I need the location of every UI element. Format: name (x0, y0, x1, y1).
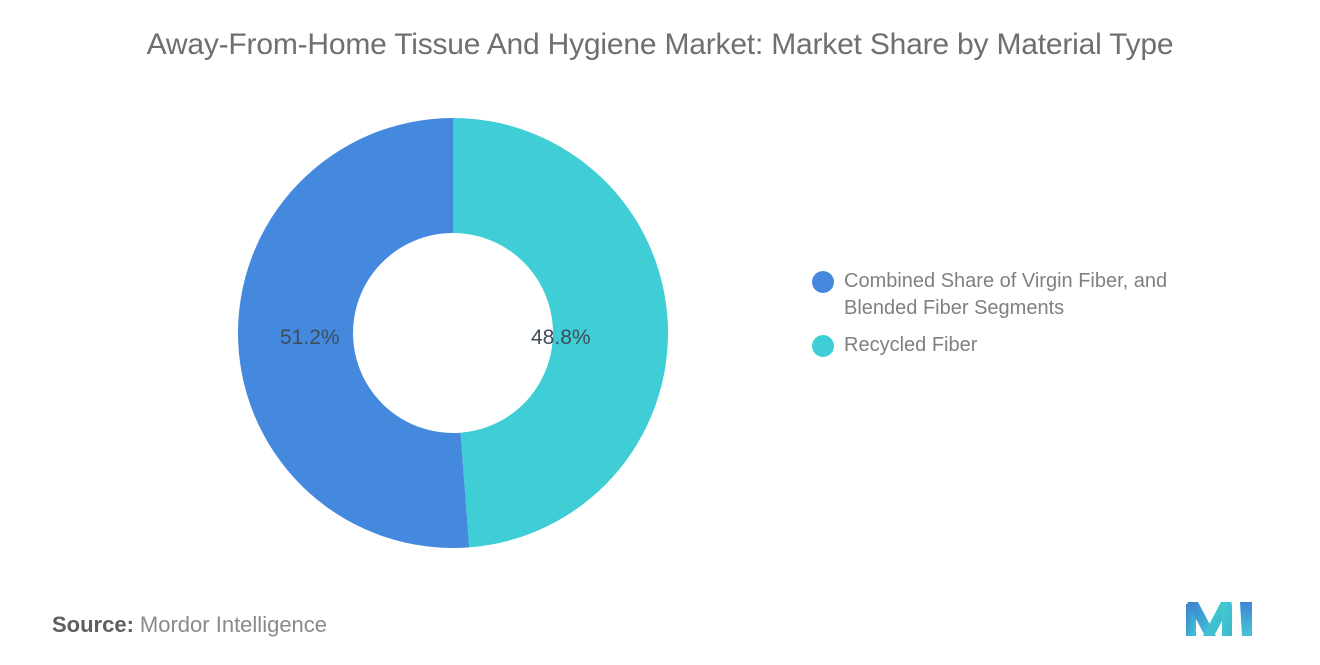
slice-value-label-0: 51.2% (280, 326, 340, 350)
donut-chart: 51.2% 48.8% (238, 118, 668, 548)
logo-mark-icon (1184, 596, 1256, 640)
legend-color-swatch-icon-0 (812, 271, 834, 293)
legend-item-1[interactable]: Recycled Fiber (812, 332, 1242, 359)
legend-color-swatch-icon-1 (812, 335, 834, 357)
legend-item-label-0: Combined Share of Virgin Fiber, and Blen… (844, 268, 1214, 322)
mordor-intelligence-logo (1184, 596, 1256, 640)
chart-legend: Combined Share of Virgin Fiber, and Blen… (812, 268, 1242, 369)
legend-item-0[interactable]: Combined Share of Virgin Fiber, and Blen… (812, 268, 1242, 322)
page-title: Away-From-Home Tissue And Hygiene Market… (0, 28, 1320, 62)
donut-slice-0[interactable] (238, 118, 469, 548)
slice-value-label-1: 48.8% (531, 326, 591, 350)
source-label: Source: (52, 612, 134, 637)
source-value: Mordor Intelligence (140, 612, 327, 637)
legend-item-label-1: Recycled Fiber (844, 332, 977, 359)
source-line: Source:Mordor Intelligence (52, 612, 327, 638)
